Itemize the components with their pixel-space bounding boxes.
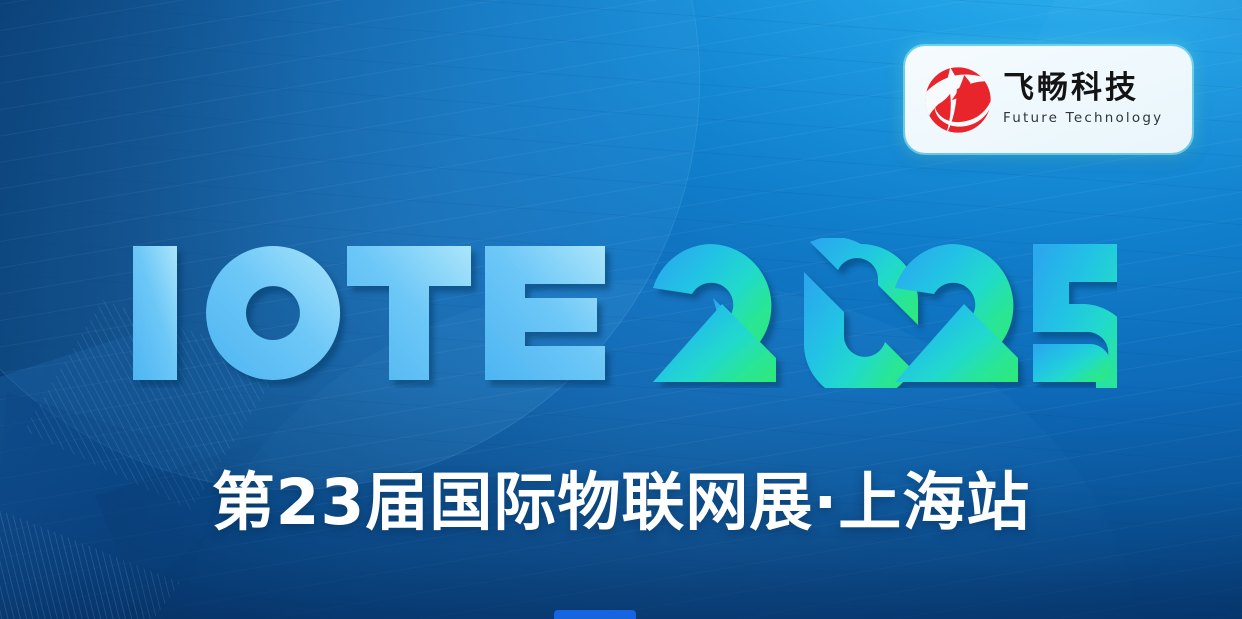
sponsor-name-cn: 飞畅科技 [1003,73,1178,104]
sponsor-logo-card[interactable]: 飞畅科技 Future Technology [905,46,1192,153]
event-subtitle: 第23届国际物联网展·上海站 [0,452,1242,543]
iote-logotype [125,238,625,388]
bottom-indicator-tab[interactable] [554,610,636,619]
sponsor-name-en: Future Technology [1003,112,1178,126]
sponsor-logo-text: 飞畅科技 Future Technology [1003,73,1178,126]
banner-root: 飞畅科技 Future Technology [0,0,1242,619]
event-wordmark [0,238,1242,388]
feichang-logo-icon [919,61,997,139]
year-logotype [647,238,1117,388]
